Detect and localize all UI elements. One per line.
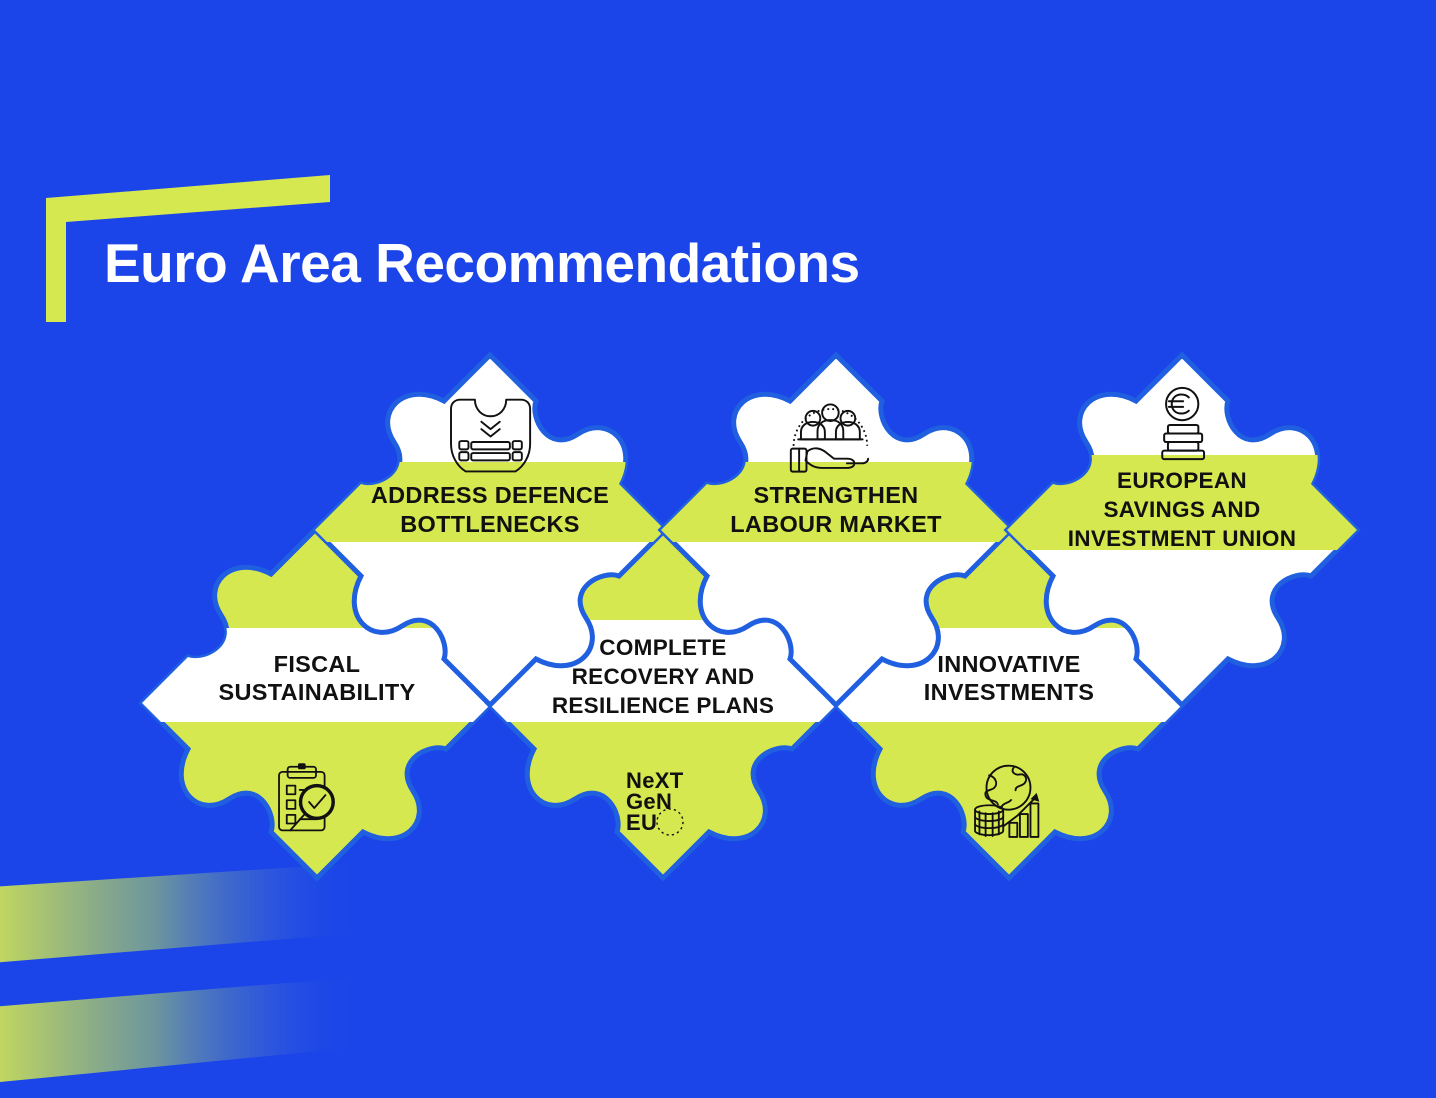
slide-canvas: Euro Area Recommendations FISCAL SUSTAIN… bbox=[0, 0, 1436, 1098]
piece-label-line: INVESTMENTS bbox=[924, 679, 1094, 705]
piece-label-line: INNOVATIVE bbox=[937, 651, 1080, 677]
piece-label-line: INVESTMENT UNION bbox=[1068, 526, 1297, 551]
piece-label-line: FISCAL bbox=[274, 651, 361, 677]
puzzle-diagram: FISCAL SUSTAINABILITY bbox=[0, 0, 1436, 1098]
piece-label-line: COMPLETE bbox=[599, 635, 726, 660]
piece-label-line: ADDRESS DEFENCE bbox=[371, 482, 609, 508]
piece-label-line: BOTTLENECKS bbox=[400, 511, 580, 537]
piece-label-line: EUROPEAN bbox=[1117, 468, 1247, 493]
nextgeneu-line: EU bbox=[626, 810, 657, 835]
piece-label-line: RECOVERY AND bbox=[572, 664, 755, 689]
piece-label-line: LABOUR MARKET bbox=[730, 511, 942, 537]
piece-label-line: SAVINGS AND bbox=[1103, 497, 1260, 522]
piece-label-line: STRENGTHEN bbox=[754, 482, 919, 508]
piece-label-line: SUSTAINABILITY bbox=[219, 679, 416, 705]
piece-label-line: RESILIENCE PLANS bbox=[552, 693, 774, 718]
